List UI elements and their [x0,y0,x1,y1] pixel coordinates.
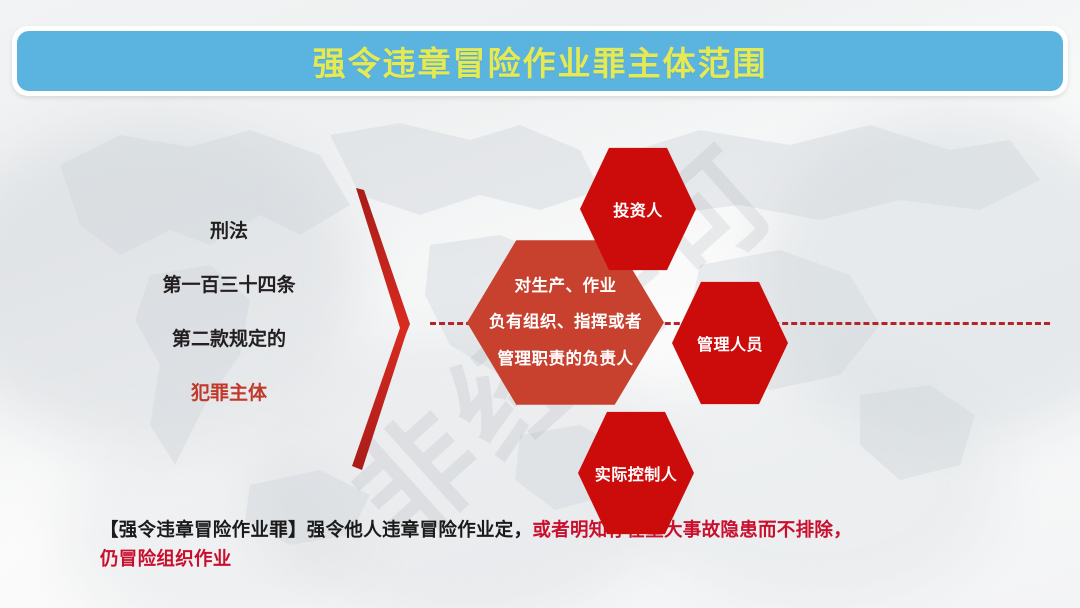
hexagon-center-label: 对生产、作业 负有组织、指挥或者 管理职责的负责人 [483,268,648,377]
footer-text-part-1: 【强令违章冒险作业罪】强令他人违章冒险作业定， [100,519,532,540]
hexagon-node-management-label: 管理人员 [697,331,763,355]
footer-paragraph: 【强令违章冒险作业罪】强令他人违章冒险作业定，或者明知存在重大事故隐患而不排除，… [100,516,1050,573]
hexagon-node-actual-controller-label: 实际控制人 [595,461,678,485]
left-label-line-3: 第二款规定的 [120,330,338,349]
hexagon-center-label-line-3: 管理职责的负责人 [489,341,642,377]
left-label-line-2: 第一百三十四条 [120,276,338,295]
hexagon-node-management[interactable]: 管理人员 [672,278,788,408]
slide-canvas: 非经许可 强令违章冒险作业罪主体范围 刑法 第一百三十四条 第二款规定的 犯罪主… [0,0,1080,608]
footer-text-part-3: 仍冒险组织作业 [100,545,1050,574]
left-label-line-1: 刑法 [120,222,338,241]
left-label-stack: 刑法 第一百三十四条 第二款规定的 犯罪主体 [120,222,338,403]
page-title: 强令违章冒险作业罪主体范围 [313,37,768,85]
hexagon-center-label-line-1: 对生产、作业 [489,268,642,304]
hexagon-center-label-line-2: 负有组织、指挥或者 [489,304,642,340]
left-label-line-4: 犯罪主体 [120,384,338,403]
chevron-right-icon [348,188,423,470]
footer-text-part-2: 或者明知存在重大事故隐患而不排除， [532,519,852,540]
title-bar-frame: 强令违章冒险作业罪主体范围 [12,26,1068,96]
title-bar: 强令违章冒险作业罪主体范围 [17,31,1063,91]
hexagon-node-investor-label: 投资人 [613,197,663,221]
background-texture-blob [760,110,1080,440]
